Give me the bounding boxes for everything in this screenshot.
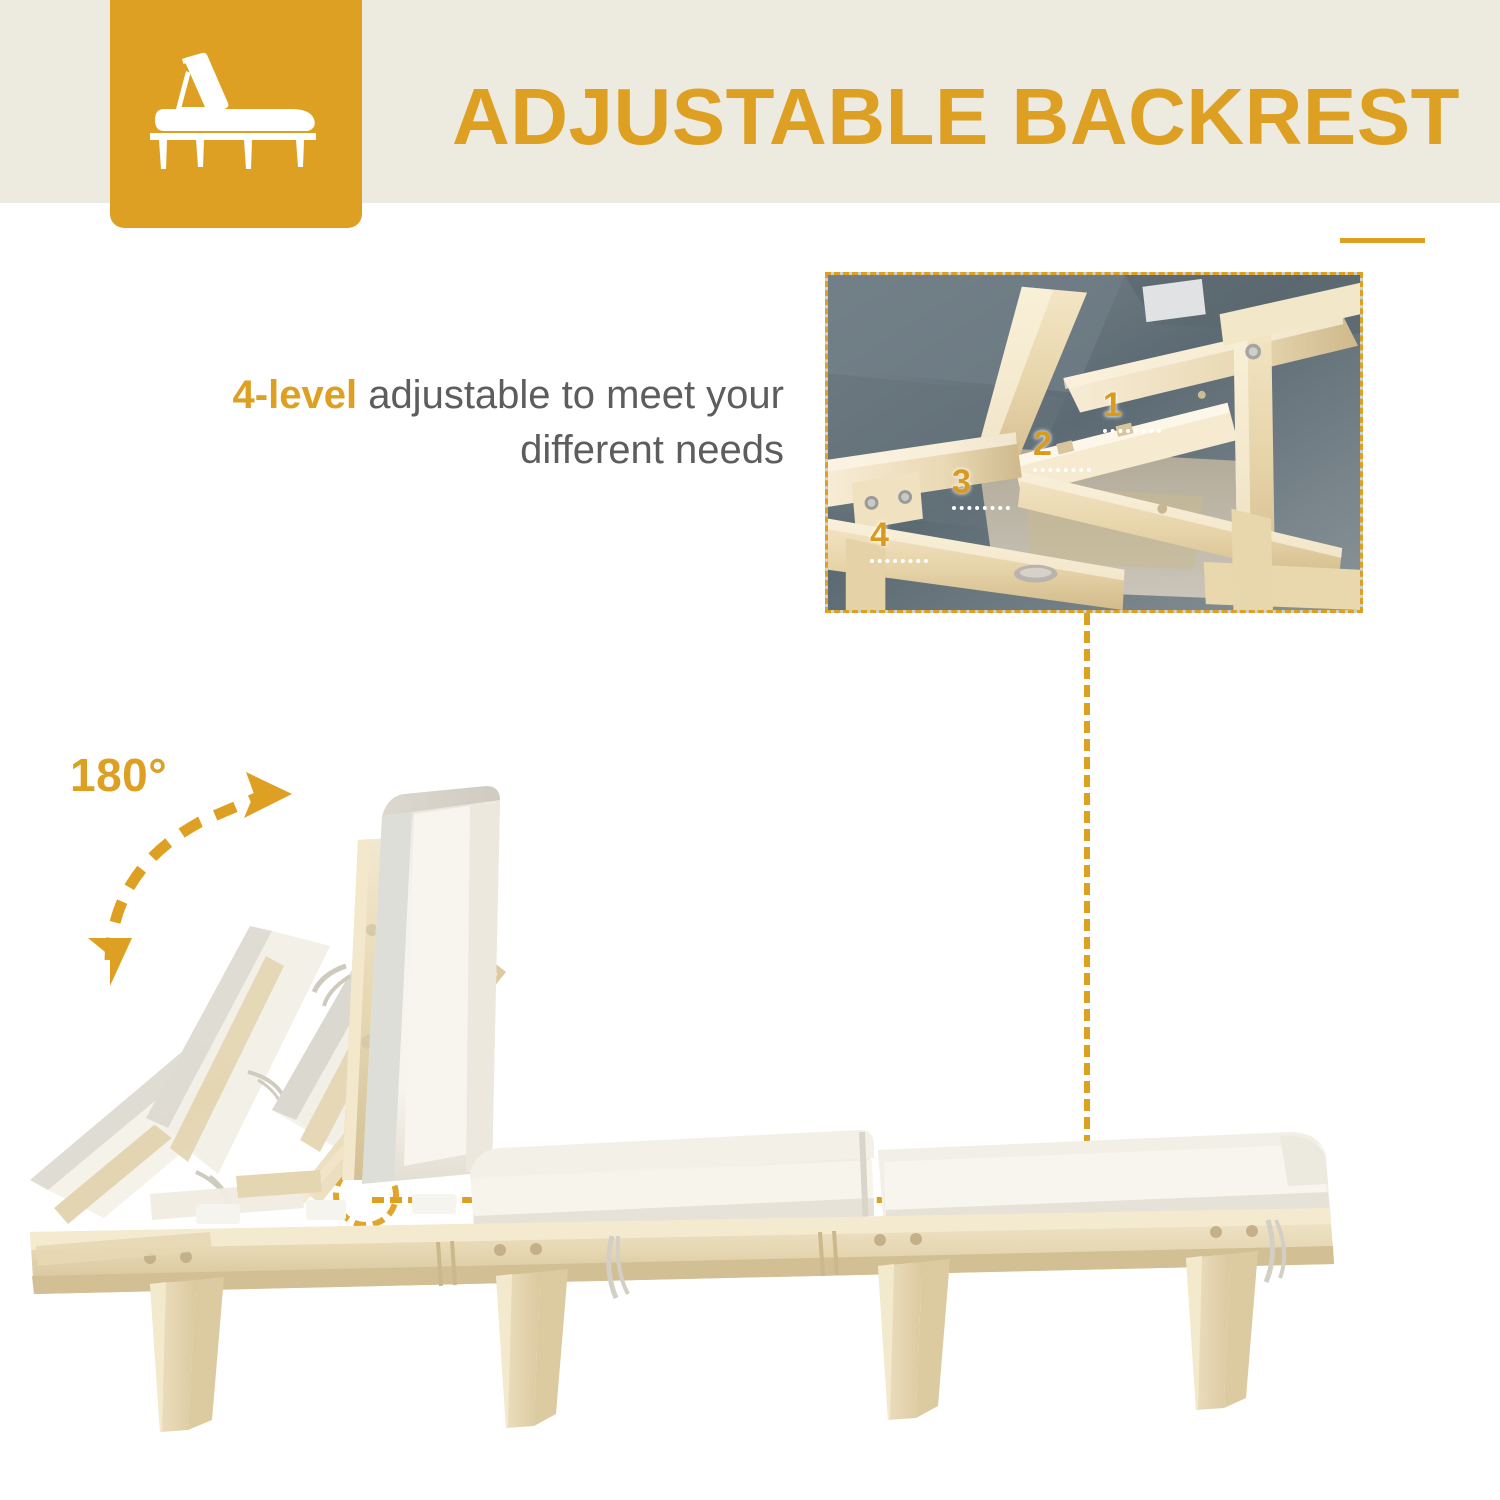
callout-3-underline (952, 502, 1010, 510)
subtitle-rest: adjustable to meet your different needs (357, 373, 784, 472)
callout-3: 3 (952, 465, 1010, 510)
accent-rule (1340, 238, 1425, 243)
chaise-lounge-icon-box (110, 0, 362, 228)
callout-4: 4 (870, 518, 928, 563)
callout-1: 1 (1103, 388, 1161, 433)
callout-1-underline (1103, 425, 1161, 433)
infographic-canvas: ADJUSTABLE BACKREST 4-level adjustable t… (0, 0, 1500, 1500)
callout-2: 2 (1033, 427, 1091, 472)
page-title: ADJUSTABLE BACKREST (400, 52, 1460, 182)
chaise-lounge-icon (136, 49, 336, 169)
subtitle-highlight: 4-level (233, 373, 358, 417)
lounger-frame (30, 1208, 1334, 1432)
subtitle: 4-level adjustable to meet your differen… (200, 368, 784, 478)
chaise-lounge-product-illustration (0, 780, 1400, 1500)
callout-2-underline (1033, 464, 1091, 472)
callout-4-underline (870, 555, 928, 563)
backrest-notch-detail-photo: 1 2 3 4 (825, 272, 1363, 613)
